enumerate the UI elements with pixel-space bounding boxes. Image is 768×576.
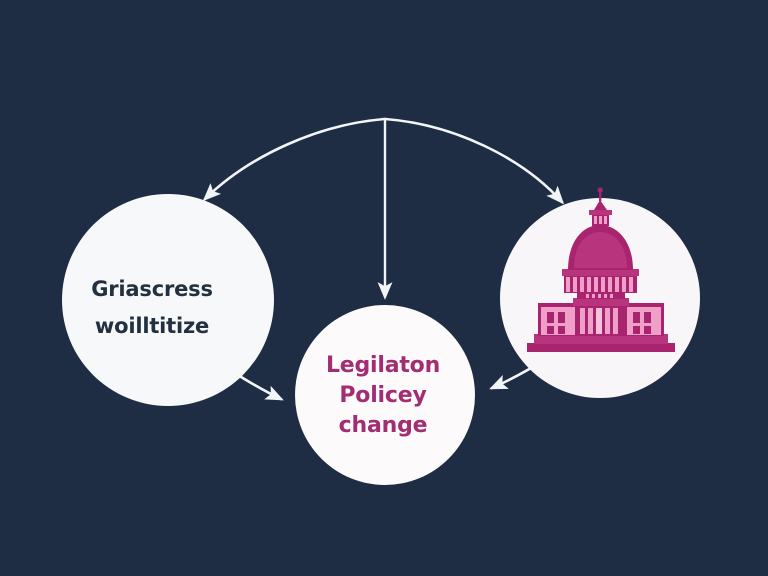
diagram-canvas: Griascress woilltitize (0, 0, 768, 576)
left-node-label-line2: woilltitize (95, 314, 209, 338)
center-node-label-line1: Legilaton (326, 353, 440, 378)
center-node[interactable]: Legilaton Policey change (295, 305, 475, 485)
center-node-label-line3: change (339, 413, 428, 438)
center-node-label-line2: Policey (339, 383, 426, 408)
left-node-label-line1: Griascress (91, 277, 213, 301)
diagram-svg: Griascress woilltitize (0, 0, 768, 576)
left-node[interactable]: Griascress woilltitize (62, 194, 274, 406)
